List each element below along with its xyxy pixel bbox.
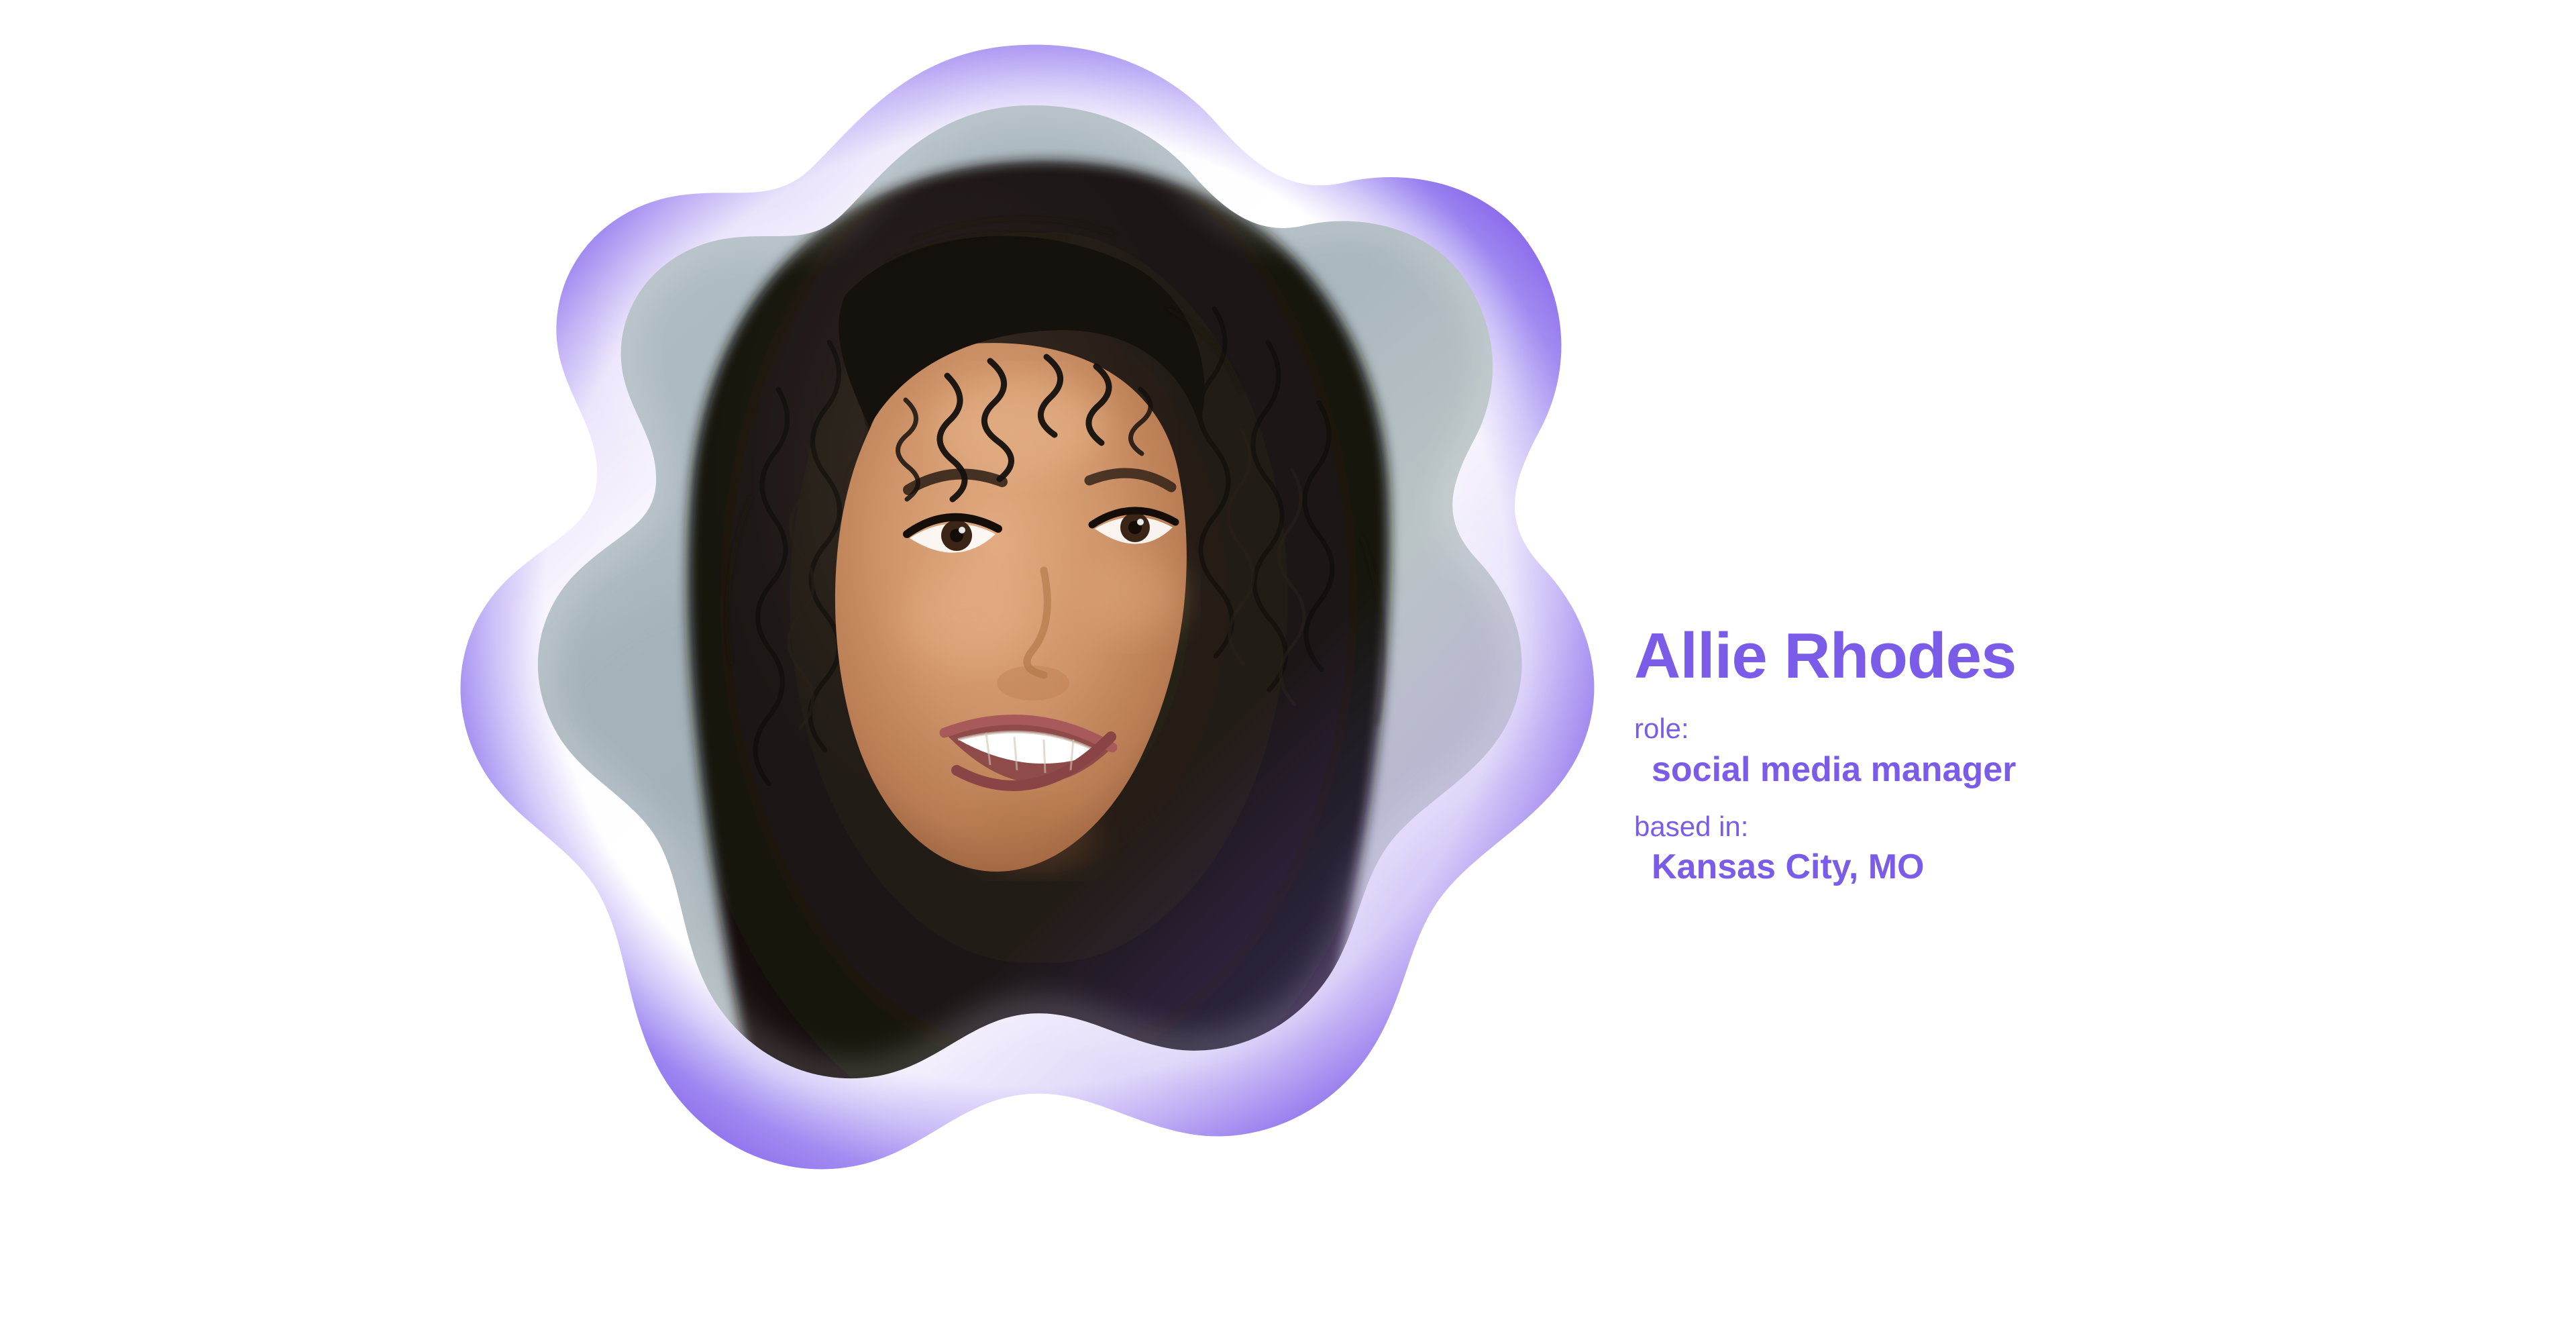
location-value: Kansas City, MO (1652, 845, 2372, 889)
role-value: social media manager (1652, 748, 2372, 792)
portrait-blob (376, 27, 1623, 1288)
info-panel: Allie Rhodes role: social media manager … (1634, 624, 2372, 907)
field-location: based in: Kansas City, MO (1634, 809, 2372, 890)
field-role: role: social media manager (1634, 711, 2372, 792)
location-label: based in: (1634, 809, 2372, 845)
person-name: Allie Rhodes (1634, 624, 2372, 688)
profile-card: Allie Rhodes role: social media manager … (0, 0, 2576, 1342)
role-label: role: (1634, 711, 2372, 747)
